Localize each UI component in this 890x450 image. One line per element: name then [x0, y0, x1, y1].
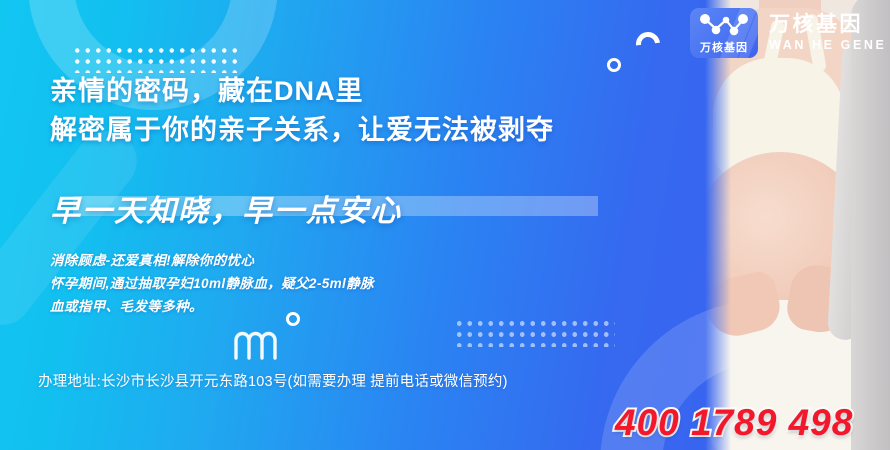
logo-mark: 万核基因 — [690, 8, 758, 58]
body-line-3: 血或指甲、毛发等多种。 — [50, 295, 374, 318]
dot-grid-top-left — [70, 43, 242, 73]
wave-squiggle-icon — [232, 326, 292, 362]
crescent-icon — [631, 27, 665, 61]
subheadline-text: 早一天知晓，早一点安心 — [50, 186, 402, 230]
phone-number[interactable]: 400 1789 498 — [615, 402, 853, 444]
promo-banner: 万核基因 万核基因 WAN HE GENE 亲情的密码，藏在DNA里 解密属于你… — [0, 0, 890, 450]
brand-logo[interactable]: 万核基因 万核基因 WAN HE GENE — [690, 8, 887, 58]
body-line-1: 消除顾虑-还爱真相!解除你的忧心 — [50, 249, 374, 272]
body-line-2: 怀孕期间,通过抽取孕妇10ml静脉血，疑父2-5ml静脉 — [50, 272, 374, 295]
headline: 亲情的密码，藏在DNA里 解密属于你的亲子关系，让爱无法被剥夺 — [50, 72, 554, 151]
subheadline: 早一天知晓，早一点安心 — [50, 186, 402, 230]
logo-mark-label: 万核基因 — [690, 39, 758, 55]
body-copy: 消除顾虑-还爱真相!解除你的忧心 怀孕期间,通过抽取孕妇10ml静脉血，疑父2-… — [50, 249, 374, 319]
pregnant-woman-photo — [705, 0, 890, 450]
headline-line-2: 解密属于你的亲子关系，让爱无法被剥夺 — [50, 111, 554, 150]
ring-circle-icon-right — [607, 58, 621, 72]
dot-grid-middle — [452, 316, 615, 347]
brand-name-en: WAN HE GENE — [769, 39, 887, 52]
brand-name-cn: 万核基因 — [769, 14, 887, 36]
headline-line-1: 亲情的密码，藏在DNA里 — [50, 72, 554, 111]
address-text: 办理地址:长沙市长沙县开元东路103号(如需要办理 提前电话或微信预约) — [38, 370, 508, 391]
